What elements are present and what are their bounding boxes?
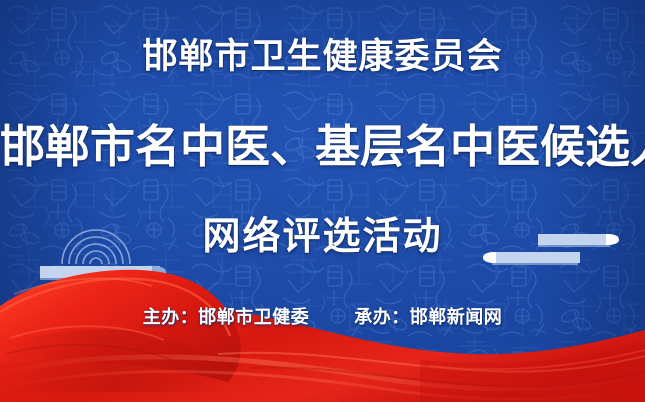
credits-row: 主办：邯郸市卫健委 承办：邯郸新闻网 [0, 303, 645, 329]
organizer-credit: 主办：邯郸市卫健委 [143, 303, 310, 329]
poster-canvas: 邯郸市卫生健康委员会 邯郸市名中医、基层名中医候选人 网络评选活动 主办：邯郸市… [0, 0, 645, 402]
headline-line-2: 邯郸市名中医、基层名中医候选人 [0, 123, 645, 172]
headline-line-1-row: 邯郸市卫生健康委员会 [0, 37, 645, 77]
host-credit: 承办：邯郸新闻网 [354, 303, 502, 329]
headline-line-1: 邯郸市卫生健康委员会 [142, 38, 502, 76]
headline-line-3-row: 网络评选活动 [0, 216, 645, 259]
headline-line-2-row: 邯郸市名中医、基层名中医候选人 [0, 121, 645, 173]
headline-line-3: 网络评选活动 [202, 217, 442, 258]
